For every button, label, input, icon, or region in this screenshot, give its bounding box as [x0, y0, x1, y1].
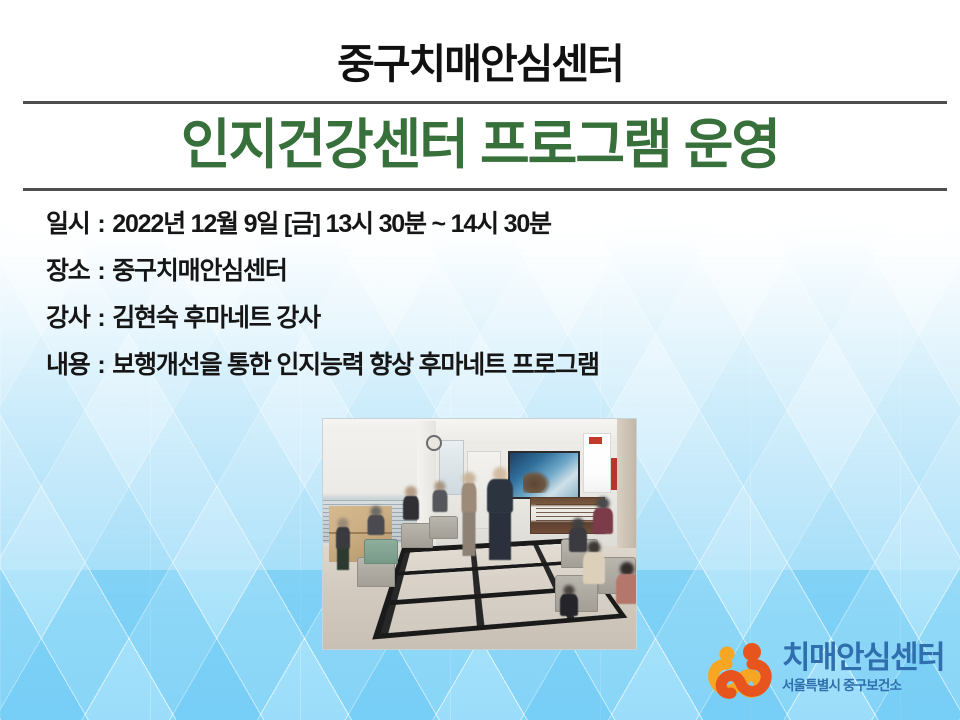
divider-bottom: [23, 188, 947, 191]
photo-person-torso: [593, 508, 613, 534]
info-separator: :: [95, 304, 106, 332]
info-row-content: 내용 : 보행개선을 통한 인지능력 향상 후마네트 프로그램: [46, 353, 920, 378]
photo-person-torso: [403, 496, 419, 520]
photo-tv-image: [523, 470, 551, 493]
photo-person-seated: [329, 518, 357, 605]
photo-person-torso: [433, 490, 448, 512]
logo-subtitle: 서울특별시 중구보건소: [782, 678, 950, 694]
info-separator: :: [95, 210, 106, 238]
info-row-instructor: 강사 : 김현숙 후마네트 강사: [46, 306, 920, 331]
organization-title: 중구치매안심센터: [0, 44, 960, 85]
photo-person-seated: [551, 585, 585, 649]
info-value-content: 보행개선을 통한 인지능력 향상 후마네트 프로그램: [112, 351, 599, 379]
info-separator: :: [95, 351, 106, 379]
photo-person-seated: [361, 506, 392, 575]
logo-title: 치매안심센터: [782, 642, 950, 675]
photo-person-seated: [426, 481, 454, 550]
center-logo: 치매안심센터 서울특별시 중구보건소: [708, 638, 948, 708]
two-figures-logo-icon: [708, 642, 774, 704]
photo-poster-header: [589, 437, 602, 444]
photo-person-torso: [368, 515, 385, 535]
photo-person-legs: [462, 512, 475, 556]
program-photo: [322, 418, 637, 650]
photo-person-legs: [337, 548, 349, 570]
photo-person-torso: [583, 552, 605, 584]
photo-person-torso: [560, 594, 578, 616]
logo-text-block: 치매안심센터 서울특별시 중구보건소: [782, 642, 950, 694]
info-label-location: 장소: [46, 257, 90, 285]
info-row-datetime: 일시 : 2022년 12월 9일 [금] 13시 30분 ~ 14시 30분: [46, 212, 920, 237]
photo-person-torso: [336, 527, 350, 549]
info-label-instructor: 강사: [46, 304, 90, 332]
info-row-location: 장소 : 중구치매안심센터: [46, 259, 920, 284]
photo-person-torso: [487, 479, 513, 513]
info-list: 일시 : 2022년 12월 9일 [금] 13시 30분 ~ 14시 30분 …: [46, 212, 920, 400]
photo-wall-clock: [426, 435, 442, 451]
photo-person-torso: [461, 483, 476, 513]
info-label-content: 내용: [46, 351, 90, 379]
photo-content: [323, 419, 636, 649]
photo-instructor-standing: [480, 467, 521, 596]
slide-canvas: 중구치매안심센터 인지건강센터 프로그램 운영 일시 : 2022년 12월 9…: [0, 0, 960, 720]
photo-person-torso: [616, 574, 636, 604]
info-label-datetime: 일시: [46, 210, 90, 238]
page-title: 인지건강센터 프로그램 운영: [0, 112, 960, 180]
divider-top: [23, 101, 947, 104]
photo-person-seated: [395, 486, 426, 560]
info-value-location: 중구치매안심센터: [112, 257, 286, 285]
info-value-instructor: 김현숙 후마네트 강사: [112, 304, 320, 332]
photo-person-seated: [608, 562, 636, 649]
info-value-datetime: 2022년 12월 9일 [금] 13시 30분 ~ 14시 30분: [112, 210, 551, 238]
photo-person-legs: [489, 512, 511, 560]
info-separator: :: [95, 257, 106, 285]
